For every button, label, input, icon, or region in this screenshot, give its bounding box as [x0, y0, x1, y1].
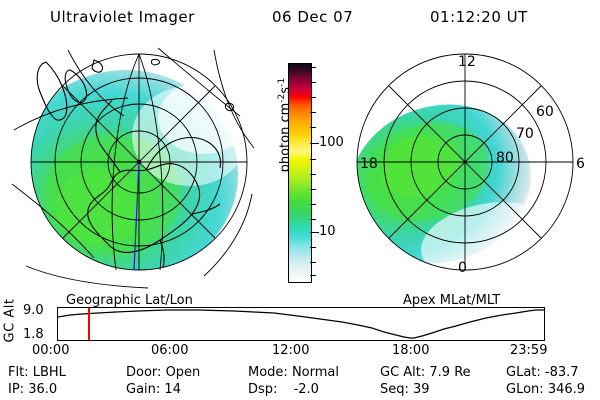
status-mode: Mode: Normal: [248, 365, 380, 380]
status-flight: Flt: LBHL: [8, 365, 126, 380]
status-ip: IP: 36.0: [8, 382, 126, 397]
altitude-timeline-plot[interactable]: [57, 307, 545, 341]
status-dsp-value: -2.0: [294, 382, 319, 397]
colorbar-minor-tick: [310, 204, 316, 205]
page-title: Ultraviolet Imager: [50, 8, 195, 26]
apex-magnetic-polar-plot[interactable]: 12 18 6 0 60 70 80: [336, 44, 594, 294]
time-tick-1800: 18:00: [392, 343, 429, 358]
mlt-spokes: [357, 54, 573, 270]
time-tick-0600: 06:00: [151, 343, 188, 358]
time-tick-0000: 00:00: [32, 343, 69, 358]
colorbar-minor-tick: [310, 112, 316, 113]
status-gain-value: 14: [164, 382, 181, 397]
time-tick-1200: 12:00: [272, 343, 309, 358]
status-glat: GLat: -83.7: [506, 365, 579, 380]
altitude-curve: [58, 308, 544, 340]
colorbar-gradient: [288, 63, 312, 283]
status-ip-value: 36.0: [28, 382, 57, 397]
observation-date: 06 Dec 07: [272, 8, 353, 26]
colorbar-major-tick-100: [310, 143, 319, 144]
time-cursor[interactable]: [88, 308, 90, 340]
status-gc-alt-label: GC Alt:: [380, 365, 425, 380]
colorbar-unit-exp2: -1: [277, 78, 287, 87]
colorbar-minor-tick: [310, 97, 316, 98]
status-gc-alt: GC Alt: 7.9 Re: [380, 365, 506, 380]
colorbar-major-tick-10: [310, 232, 319, 233]
status-gain: Gain: 14: [126, 382, 248, 397]
status-glon: GLon: 346.9: [506, 382, 585, 397]
status-block: Flt: LBHL Door: Open Mode: Normal GC Alt…: [8, 364, 594, 398]
observation-time: 01:12:20 UT: [430, 8, 528, 26]
right-panel-caption: Apex MLat/MLT: [403, 293, 500, 308]
colorbar-minor-tick: [310, 189, 316, 190]
time-tick-2359: 23:59: [510, 343, 547, 358]
colorbar-minor-tick: [310, 262, 316, 263]
mlt-label-12: 12: [458, 54, 476, 70]
mlat-label-60: 60: [536, 104, 554, 120]
status-ip-label: IP:: [8, 382, 24, 397]
status-flight-label: Flt:: [8, 365, 29, 380]
status-door-value: Open: [166, 365, 201, 380]
status-seq-label: Seq:: [380, 382, 409, 397]
colorbar-minor-tick: [310, 275, 316, 276]
mlt-label-18: 18: [360, 156, 378, 172]
mlt-label-0: 0: [458, 260, 467, 276]
status-row-2: IP: 36.0 Gain: 14 Dsp: -2.0 Seq: 39 GLon…: [8, 381, 594, 398]
status-glat-label: GLat:: [506, 365, 541, 380]
colorbar-minor-tick: [310, 247, 316, 248]
status-seq: Seq: 39: [380, 382, 506, 397]
status-door: Door: Open: [126, 365, 248, 380]
status-row-1: Flt: LBHL Door: Open Mode: Normal GC Alt…: [8, 364, 594, 381]
status-seq-value: 39: [413, 382, 430, 397]
status-gc-alt-value: 7.9 Re: [429, 365, 470, 380]
status-glat-value: -83.7: [545, 365, 579, 380]
status-dsp: Dsp: -2.0: [248, 382, 380, 397]
mlat-label-80: 80: [496, 150, 514, 166]
mlat-label-70: 70: [516, 126, 534, 142]
colorbar-unit-exp1: -2: [277, 94, 287, 103]
status-glon-value: 346.9: [548, 382, 585, 397]
geographic-polar-plot[interactable]: [8, 44, 270, 294]
status-dsp-label: Dsp:: [248, 382, 277, 397]
status-door-label: Door:: [126, 365, 161, 380]
status-flight-value: LBHL: [33, 365, 66, 380]
status-mode-value: Normal: [292, 365, 339, 380]
status-mode-label: Mode:: [248, 365, 288, 380]
colorbar-minor-tick: [310, 67, 316, 68]
altitude-tick-low: 1.8: [23, 327, 44, 342]
altitude-axis-label: GC Alt: [3, 294, 18, 348]
colorbar-minor-tick: [310, 159, 316, 160]
colorbar-label-10: 10: [319, 225, 336, 238]
mlt-label-6: 6: [576, 156, 585, 172]
altitude-tick-high: 9.0: [23, 303, 44, 318]
left-panel-caption: Geographic Lat/Lon: [66, 293, 193, 308]
status-gain-label: Gain:: [126, 382, 160, 397]
colorbar-minor-tick: [310, 82, 316, 83]
colorbar-minor-tick: [310, 174, 316, 175]
status-glon-label: GLon:: [506, 382, 544, 397]
colorbar-minor-tick: [310, 219, 316, 220]
colorbar-minor-tick: [310, 127, 316, 128]
